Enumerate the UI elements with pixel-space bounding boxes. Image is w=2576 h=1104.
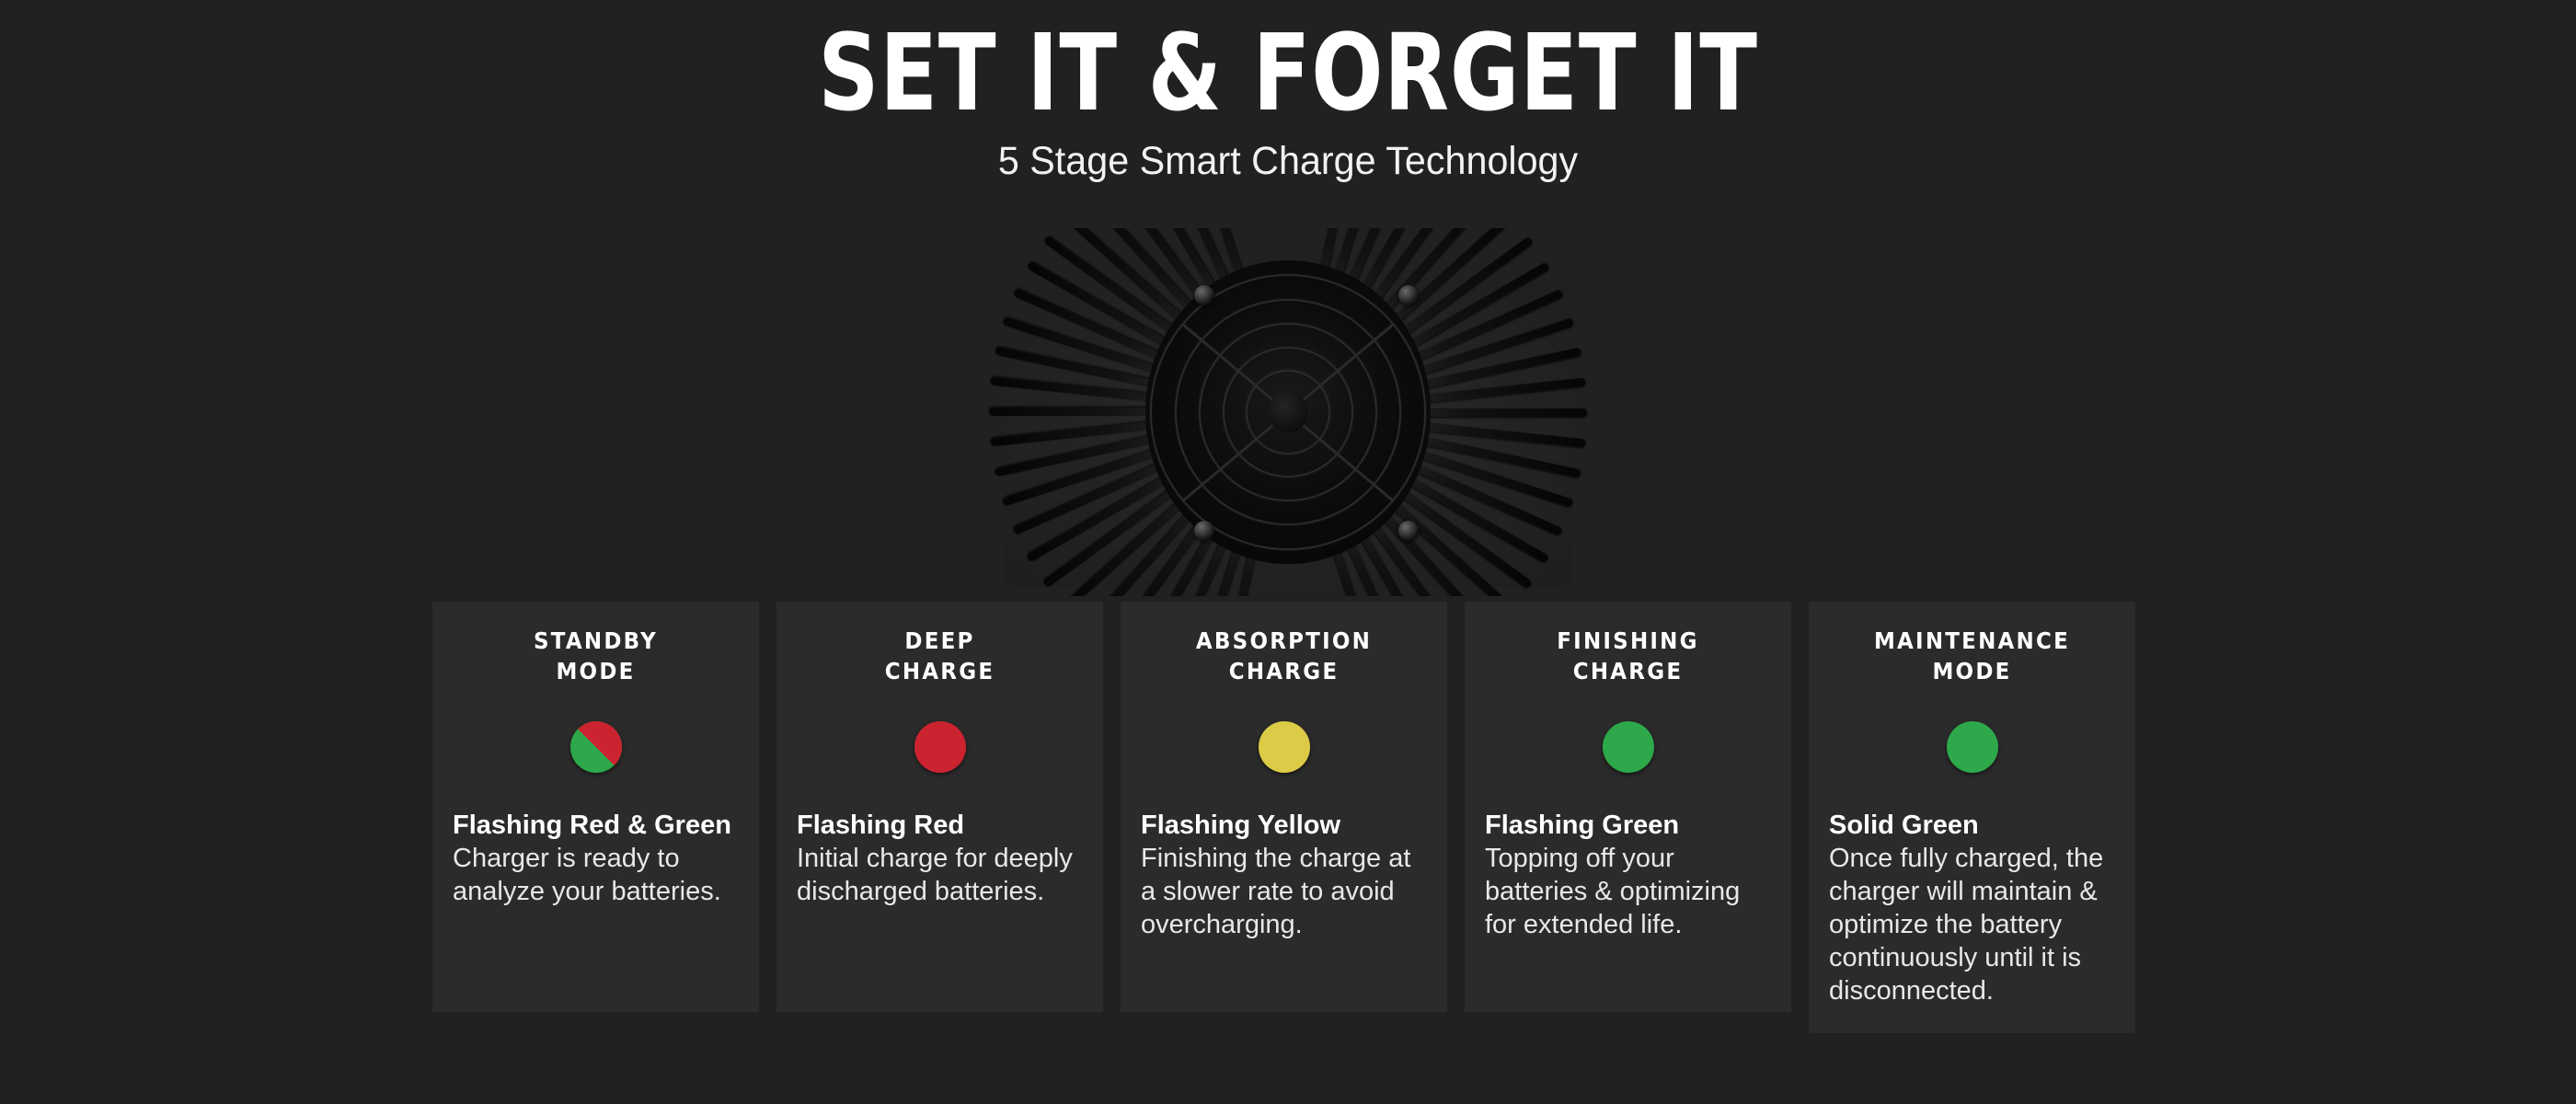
led-indicator-area (453, 686, 739, 808)
card-title: DEEPCHARGE (808, 626, 1071, 686)
card-description: Finishing the charge at a slower rate to… (1141, 842, 1427, 941)
screw-icon (1398, 521, 1419, 541)
page-root: SET IT & FORGET IT 5 Stage Smart Charge … (0, 0, 2576, 1104)
led-status-label: Flashing Yellow (1141, 810, 1427, 842)
charge-stage-card: FINISHINGCHARGEFlashing GreenTopping off… (1465, 602, 1791, 1012)
yellow-led-icon (1259, 721, 1310, 773)
card-body: Flashing GreenTopping off your batteries… (1485, 810, 1771, 941)
led-indicator-area (797, 686, 1083, 808)
card-title-line: MAINTENANCE (1840, 626, 2103, 656)
card-body: Flashing RedInitial charge for deeply di… (797, 810, 1083, 908)
card-title: STANDBYMODE (464, 626, 727, 686)
card-title: ABSORPTIONCHARGE (1152, 626, 1415, 686)
screw-icon (1194, 521, 1214, 541)
led-status-label: Flashing Green (1485, 810, 1771, 842)
led-indicator-area (1141, 686, 1427, 808)
card-body: Flashing YellowFinishing the charge at a… (1141, 810, 1427, 941)
card-body: Solid GreenOnce fully charged, the charg… (1829, 810, 2115, 1007)
page-subtitle: 5 Stage Smart Charge Technology (52, 138, 2524, 184)
card-body: Flashing Red & GreenCharger is ready to … (453, 810, 739, 908)
charge-stage-card: MAINTENANCEMODESolid GreenOnce fully cha… (1809, 602, 2135, 1033)
led-indicator-area (1485, 686, 1771, 808)
led-status-label: Solid Green (1829, 810, 2115, 842)
card-description: Initial charge for deeply discharged bat… (797, 842, 1083, 908)
card-description: Once fully charged, the charger will mai… (1829, 842, 2115, 1007)
fan-grille-icon (1145, 260, 1431, 564)
card-title-line: FINISHING (1496, 626, 1759, 656)
card-title-line: DEEP (808, 626, 1071, 656)
card-title-line: MODE (1840, 656, 2103, 686)
card-title-line: CHARGE (808, 656, 1071, 686)
product-image (966, 228, 1610, 596)
screw-icon (1398, 285, 1419, 305)
card-title-line: ABSORPTION (1152, 626, 1415, 656)
header: SET IT & FORGET IT 5 Stage Smart Charge … (0, 0, 2576, 184)
split-red-green-led-icon (570, 721, 622, 773)
screw-icon (1194, 285, 1214, 305)
card-title-line: STANDBY (464, 626, 727, 656)
charge-stage-card: ABSORPTIONCHARGEFlashing YellowFinishing… (1121, 602, 1447, 1012)
green-led-icon (1947, 721, 1998, 773)
card-title: FINISHINGCHARGE (1496, 626, 1759, 686)
charge-stage-card-row: STANDBYMODEFlashing Red & GreenCharger i… (432, 602, 2145, 1033)
fan-hub (1268, 392, 1308, 432)
led-status-label: Flashing Red & Green (453, 810, 739, 842)
card-title-line: CHARGE (1152, 656, 1415, 686)
charge-stage-card: STANDBYMODEFlashing Red & GreenCharger i… (432, 602, 759, 1012)
card-title-line: MODE (464, 656, 727, 686)
card-description: Charger is ready to analyze your batteri… (453, 842, 739, 908)
charge-stage-card: DEEPCHARGEFlashing RedInitial charge for… (776, 602, 1103, 1012)
card-title-line: CHARGE (1496, 656, 1759, 686)
page-title: SET IT & FORGET IT (258, 22, 2318, 125)
green-led-icon (1603, 721, 1654, 773)
card-title: MAINTENANCEMODE (1840, 626, 2103, 686)
led-indicator-area (1829, 686, 2115, 808)
card-description: Topping off your batteries & optimizing … (1485, 842, 1771, 941)
led-status-label: Flashing Red (797, 810, 1083, 842)
red-led-icon (914, 721, 966, 773)
